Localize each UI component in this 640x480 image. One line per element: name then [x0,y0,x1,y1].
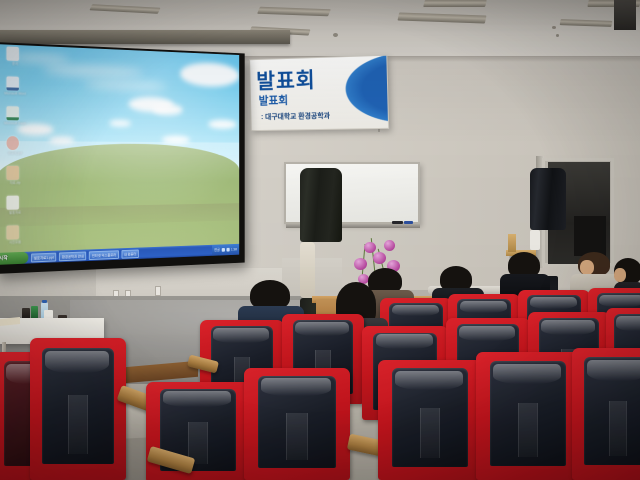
document-icon[interactable]: 문서 [0,46,31,73]
presenter-jacket [300,168,342,242]
seat-emblem [420,408,441,458]
ime-indicator[interactable]: 한글 [214,245,220,256]
projected-desktop[interactable]: 문서 Microsoft Word Microsoft Excel 보고서.pd… [0,44,239,265]
seat-gloss [392,305,440,317]
table-row[interactable] [30,338,126,480]
event-banner: 발표회 발표회 : 대구대학교 환경공학과 [249,55,389,131]
projection-screen[interactable]: 문서 Microsoft Word Microsoft Excel 보고서.pd… [0,42,245,274]
ceiling-sprinkler [552,26,556,29]
marker-black-icon[interactable] [392,221,403,224]
seat-gloss [376,334,433,349]
seat-gloss [616,316,640,331]
power-outlet[interactable] [155,286,161,296]
staff-suit-jacket [530,168,566,230]
banner-title-medium: 발표회 [259,93,342,107]
seminar-room-photo: 발표회 발표회 : 대구대학교 환경공학과 [0,0,640,480]
seat-emblem [68,395,87,455]
taskbar-task-3[interactable]: 인터넷 익스플로러 [89,250,119,260]
projection-screen-housing [0,30,290,44]
word-document-icon[interactable]: Microsoft Word [0,76,31,103]
orchid-bloom [364,242,376,253]
ceiling-light-fixture [423,0,487,7]
seat-gloss [530,297,578,309]
excel-document-icon[interactable]: Microsoft Excel [0,106,31,132]
pdf-document-icon[interactable]: 보고서.pdf [0,136,31,162]
seat-gloss [541,320,595,335]
orchid-bloom [384,240,395,251]
text-file-icon[interactable]: 발표자료 [0,195,31,221]
seat-gloss [295,322,349,336]
tray-network-icon[interactable] [226,248,229,252]
taskbar-task-2[interactable]: 환경공학과 안내 [59,251,86,261]
ceiling-speaker [614,0,636,30]
table-row[interactable] [378,360,482,480]
seat-gloss [45,351,108,374]
seat-gloss [460,301,508,313]
ceiling-sprinkler [333,33,338,37]
orchid-bloom [373,252,386,264]
zip-archive-icon[interactable]: 자료.zip [0,166,31,192]
table-row[interactable] [244,368,350,480]
seat-emblem [286,413,307,460]
desktop-icon-column: 문서 Microsoft Word Microsoft Excel 보고서.pd… [0,46,31,265]
start-button[interactable]: 시작 [0,252,28,265]
image-file-icon[interactable]: 사진모음 [0,225,31,252]
seat-gloss [213,328,268,343]
tray-volume-icon[interactable] [221,248,224,252]
table-row[interactable] [572,348,640,480]
banner-title-large: 발표회 [256,69,343,93]
seat-gloss [395,371,464,390]
seat-gloss [599,295,640,307]
ceiling-sensor [556,34,559,37]
seat-emblem [609,401,627,456]
tray-clock[interactable]: 1:38 [231,244,237,255]
seat-gloss [587,360,640,381]
doorway-interior-shadow [574,216,606,256]
table-row[interactable] [476,352,580,480]
taskbar-task-1[interactable]: 발표자료1.ppt [31,252,56,262]
bottle-cap-icon [42,300,47,303]
seat-gloss [493,364,562,384]
seat-gloss [459,326,514,341]
seat-gloss [163,391,232,407]
marker-blue-icon[interactable] [404,221,413,224]
seat-emblem [518,403,539,457]
taskbar-task-4[interactable]: 내 컴퓨터 [121,249,139,258]
system-tray[interactable]: 한글 1:38 [212,244,239,256]
seat-gloss [261,378,331,396]
